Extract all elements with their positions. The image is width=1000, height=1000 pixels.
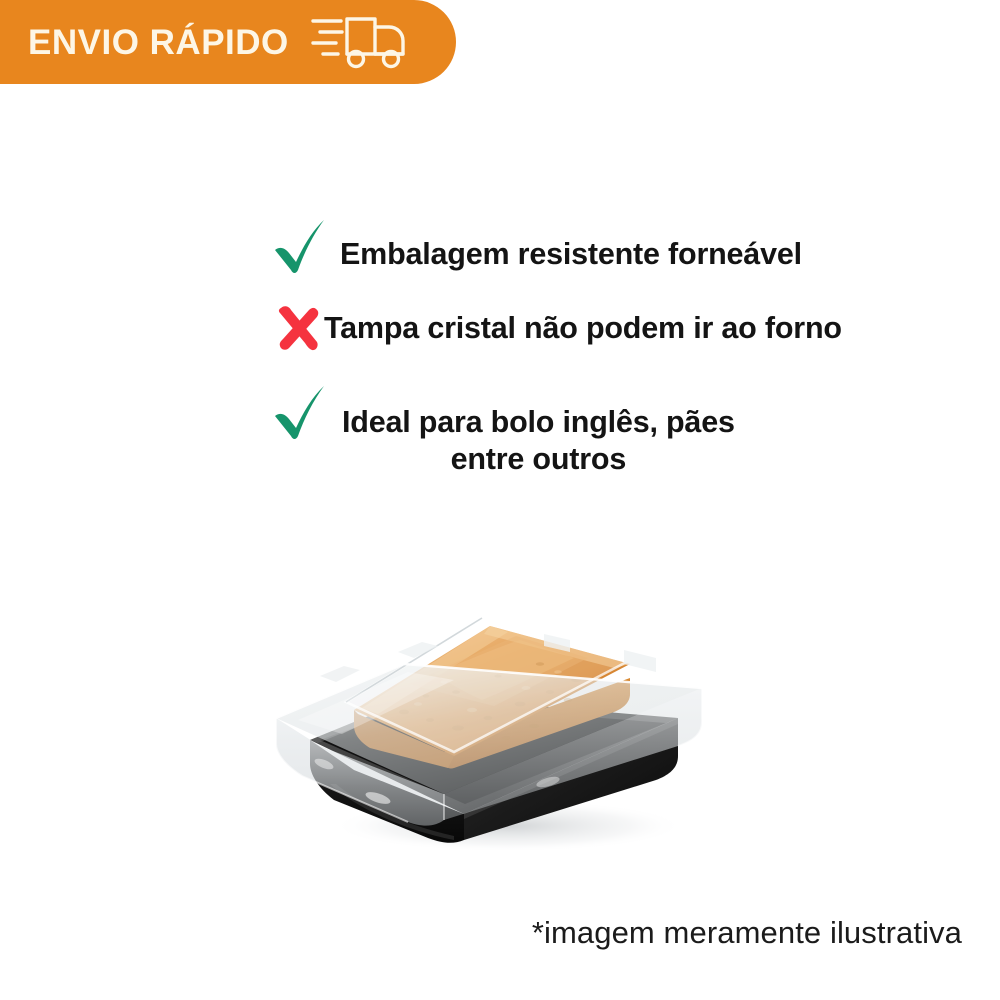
feature-text-3-line2: entre outros (342, 441, 735, 478)
delivery-truck-icon (311, 13, 407, 71)
check-icon (272, 218, 328, 276)
feature-text-3-line1: Ideal para bolo inglês, pães (342, 405, 735, 439)
feature-text-3: Ideal para bolo inglês, pães entre outro… (342, 388, 735, 478)
product-image (258, 568, 742, 868)
feature-item-1: Embalagem resistente forneável (272, 222, 972, 276)
cross-icon (272, 302, 324, 354)
disclaimer-text: *imagem meramente ilustrativa (532, 915, 962, 951)
feature-item-3: Ideal para bolo inglês, pães entre outro… (272, 388, 972, 478)
check-icon (272, 384, 328, 442)
fast-shipping-label: ENVIO RÁPIDO (28, 25, 289, 60)
feature-list: Embalagem resistente forneável Tampa cri… (272, 222, 972, 478)
feature-item-2: Tampa cristal não podem ir ao forno (272, 300, 972, 354)
feature-text-2: Tampa cristal não podem ir ao forno (324, 300, 842, 347)
fast-shipping-badge: ENVIO RÁPIDO (0, 0, 456, 84)
feature-text-1: Embalagem resistente forneável (340, 222, 802, 273)
